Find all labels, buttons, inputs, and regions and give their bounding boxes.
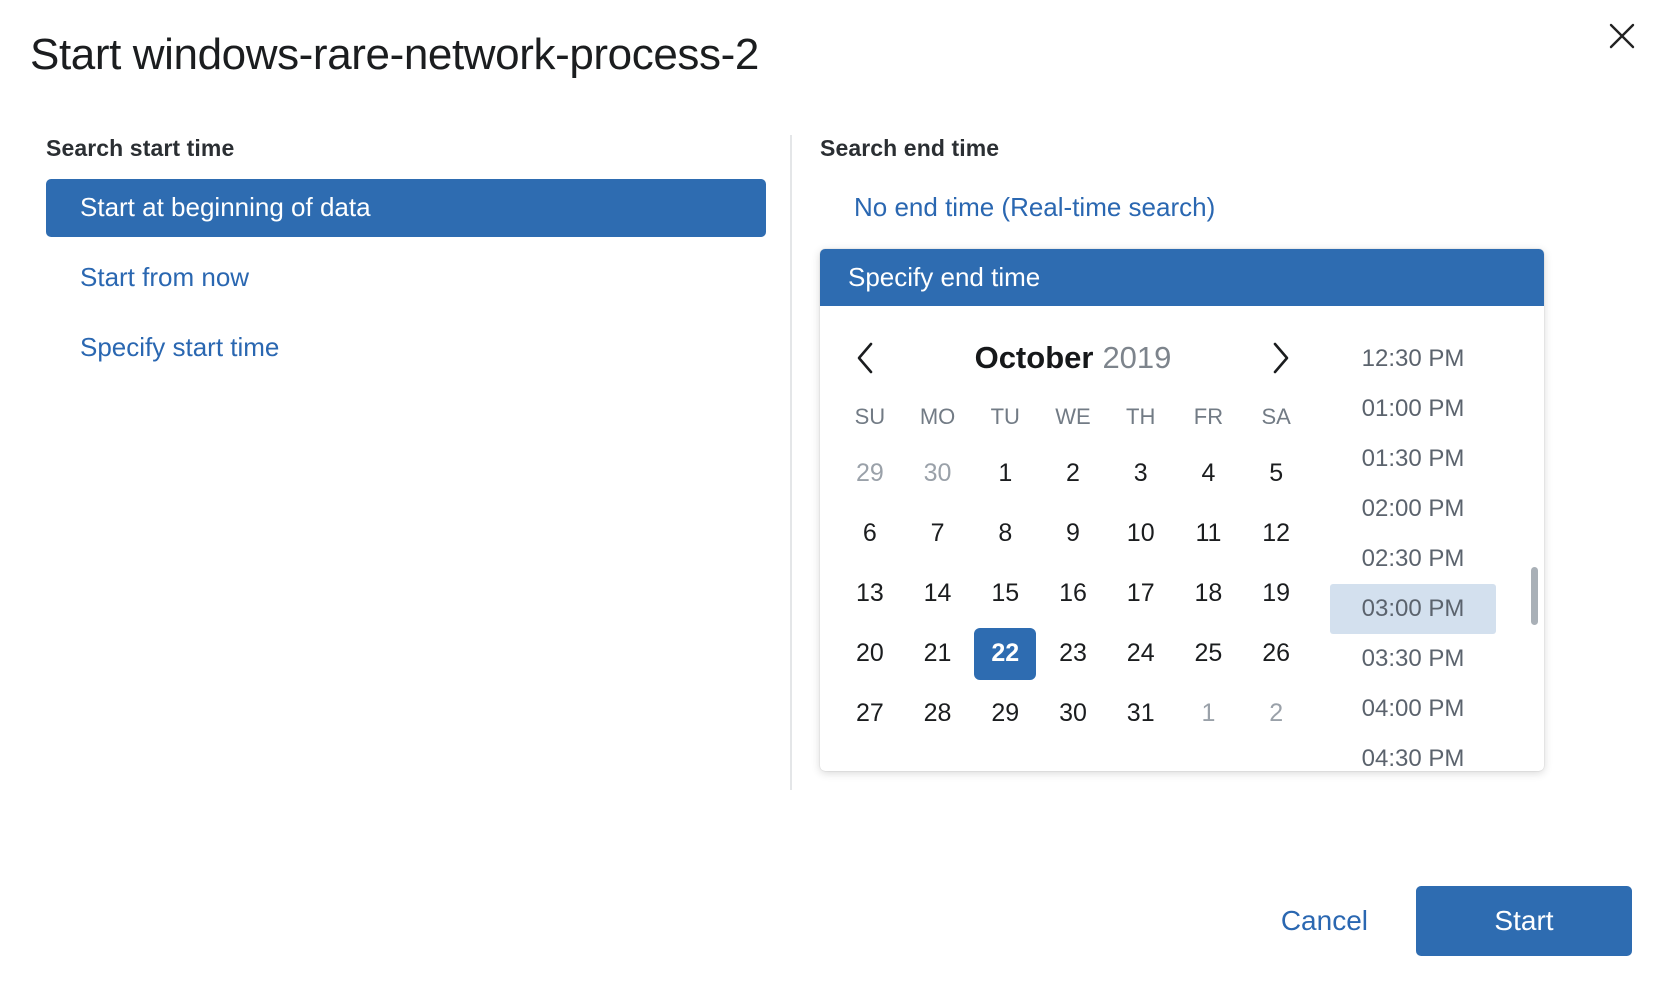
calendar-day[interactable]: 7 [904, 504, 972, 564]
time-list-wrapper: 12:30 PM01:00 PM01:30 PM02:00 PM02:30 PM… [1320, 306, 1544, 771]
calendar-day[interactable]: 28 [904, 684, 972, 744]
end-option-no-end-time[interactable]: No end time (Real-time search) [820, 179, 1544, 237]
calendar-grid: SUMOTUWETHFRSA29301234567891011121314151… [836, 394, 1310, 744]
time-option[interactable]: 04:00 PM [1330, 684, 1496, 734]
calendar-day[interactable]: 23 [1039, 624, 1107, 684]
time-option[interactable]: 03:30 PM [1330, 634, 1496, 684]
calendar-day[interactable]: 12 [1242, 504, 1310, 564]
calendar-month-year: October2019 [888, 340, 1258, 376]
end-time-option-list: No end time (Real-time search) Specify e… [820, 179, 1666, 771]
calendar-year-label: 2019 [1102, 340, 1171, 375]
start-option-beginning-of-data[interactable]: Start at beginning of data [46, 179, 766, 237]
calendar-day[interactable]: 29 [971, 684, 1039, 744]
calendar-month-label: October [975, 340, 1094, 375]
calendar-weekday-header: TU [971, 394, 1039, 444]
calendar-day[interactable]: 9 [1039, 504, 1107, 564]
calendar-weekday-header: MO [904, 394, 972, 444]
calendar-day[interactable]: 11 [1175, 504, 1243, 564]
calendar-weekday-header: SU [836, 394, 904, 444]
calendar-day[interactable]: 15 [971, 564, 1039, 624]
start-option-specify-start-time[interactable]: Specify start time [46, 319, 766, 377]
time-list-scrollbar-thumb[interactable] [1531, 567, 1538, 625]
time-list[interactable]: 12:30 PM01:00 PM01:30 PM02:00 PM02:30 PM… [1320, 322, 1544, 771]
start-button[interactable]: Start [1416, 886, 1632, 956]
time-range-columns: Search start time Start at beginning of … [0, 135, 1666, 810]
close-icon[interactable] [1600, 14, 1644, 58]
calendar-day[interactable]: 25 [1175, 624, 1243, 684]
calendar-day[interactable]: 1 [1175, 684, 1243, 744]
start-search-dialog: Start windows-rare-network-process-2 Sea… [0, 0, 1666, 994]
calendar-day[interactable]: 1 [971, 444, 1039, 504]
calendar-day[interactable]: 4 [1175, 444, 1243, 504]
calendar-weekday-header: WE [1039, 394, 1107, 444]
calendar-day[interactable]: 20 [836, 624, 904, 684]
calendar-day[interactable]: 24 [1107, 624, 1175, 684]
dialog-footer: Cancel Start [1245, 886, 1632, 956]
chevron-left-icon[interactable] [842, 335, 888, 381]
calendar: October2019 SUMOTUWETHFRSA29301234567891… [820, 306, 1320, 771]
calendar-day[interactable]: 21 [904, 624, 972, 684]
calendar-day[interactable]: 18 [1175, 564, 1243, 624]
end-option-specify-end-time[interactable]: Specify end time [820, 249, 1544, 306]
page-title: Start windows-rare-network-process-2 [30, 30, 759, 80]
calendar-day[interactable]: 6 [836, 504, 904, 564]
calendar-day[interactable]: 17 [1107, 564, 1175, 624]
start-option-from-now[interactable]: Start from now [46, 249, 766, 307]
time-option[interactable]: 12:30 PM [1330, 334, 1496, 384]
calendar-day[interactable]: 3 [1107, 444, 1175, 504]
time-option[interactable]: 01:30 PM [1330, 434, 1496, 484]
end-time-picker-popup: Specify end time O [820, 249, 1544, 771]
time-option[interactable]: 02:30 PM [1330, 534, 1496, 584]
calendar-day[interactable]: 30 [1039, 684, 1107, 744]
time-option[interactable]: 02:00 PM [1330, 484, 1496, 534]
search-end-time-column: Search end time No end time (Real-time s… [790, 135, 1666, 790]
calendar-day[interactable]: 8 [971, 504, 1039, 564]
calendar-weekday-header: FR [1175, 394, 1243, 444]
chevron-right-icon[interactable] [1258, 335, 1304, 381]
calendar-day[interactable]: 26 [1242, 624, 1310, 684]
calendar-day[interactable]: 2 [1242, 684, 1310, 744]
calendar-day-selected[interactable]: 22 [971, 624, 1039, 684]
search-start-time-column: Search start time Start at beginning of … [0, 135, 790, 810]
search-end-time-heading: Search end time [820, 135, 1666, 162]
calendar-day[interactable]: 29 [836, 444, 904, 504]
calendar-day[interactable]: 31 [1107, 684, 1175, 744]
calendar-day[interactable]: 16 [1039, 564, 1107, 624]
time-option[interactable]: 01:00 PM [1330, 384, 1496, 434]
calendar-day[interactable]: 19 [1242, 564, 1310, 624]
search-start-time-heading: Search start time [46, 135, 766, 162]
time-option[interactable]: 04:30 PM [1330, 734, 1496, 771]
calendar-weekday-header: SA [1242, 394, 1310, 444]
calendar-day[interactable]: 14 [904, 564, 972, 624]
picker-body: October2019 SUMOTUWETHFRSA29301234567891… [820, 306, 1544, 771]
calendar-day[interactable]: 5 [1242, 444, 1310, 504]
calendar-day[interactable]: 10 [1107, 504, 1175, 564]
calendar-day[interactable]: 13 [836, 564, 904, 624]
calendar-day[interactable]: 2 [1039, 444, 1107, 504]
time-option-selected[interactable]: 03:00 PM [1330, 584, 1496, 634]
calendar-weekday-header: TH [1107, 394, 1175, 444]
calendar-day[interactable]: 27 [836, 684, 904, 744]
start-time-option-list: Start at beginning of data Start from no… [46, 179, 766, 376]
time-list-scrollbar[interactable] [1530, 322, 1538, 771]
cancel-button[interactable]: Cancel [1245, 889, 1404, 953]
calendar-day[interactable]: 30 [904, 444, 972, 504]
calendar-nav: October2019 [836, 322, 1310, 394]
